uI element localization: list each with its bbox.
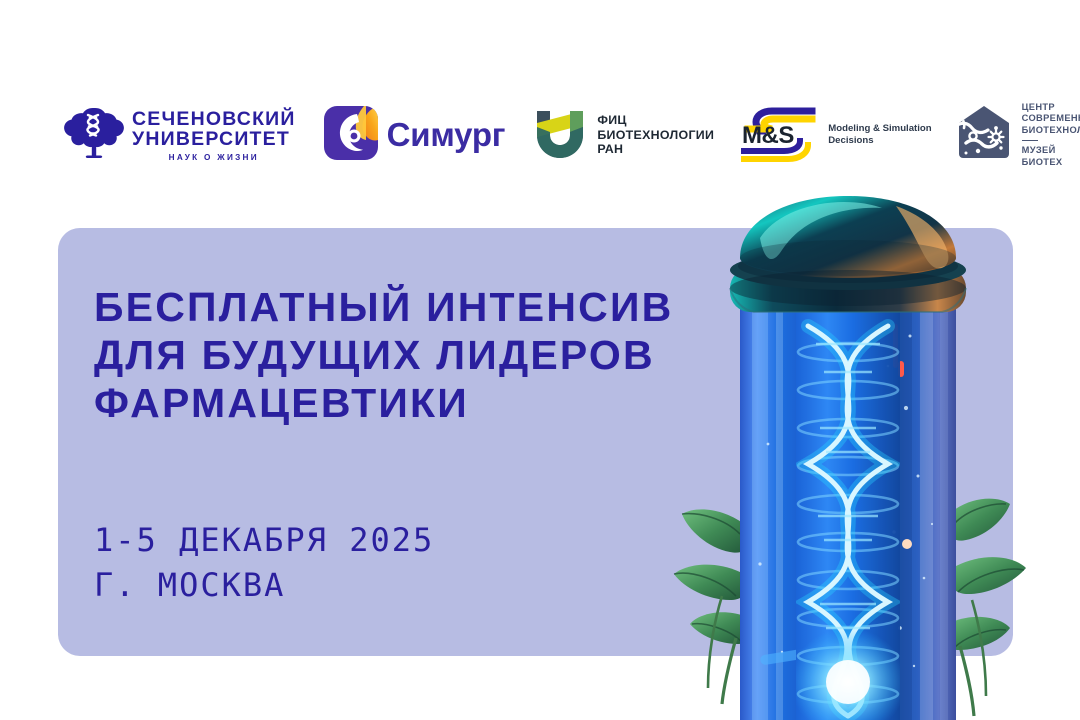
inner-chamber [790,304,906,720]
amber-bubble [902,539,912,549]
leaf-cluster-right [946,499,1026,716]
biotech-line1: ЦЕНТР [1022,102,1080,113]
sechenov-line2: УНИВЕРСИТЕТ [132,129,296,149]
logo-sechenov-university: СЕЧЕНОВСКИЙ УНИВЕРСИТЕТ НАУК О ЖИЗНИ [62,102,296,169]
tree-dna-icon [62,102,124,169]
sechenov-tagline: НАУК О ЖИЗНИ [132,153,296,162]
sechenov-line1: СЕЧЕНОВСКИЙ [132,109,296,129]
logo-fic-text: ФИЦ БИОТЕХНОЛОГИИ РАН [597,113,714,157]
svg-text:M&S: M&S [742,122,794,149]
pentagon-microbe-icon [956,103,1012,166]
leaf-cluster-left [674,509,750,704]
bioreactor-illustration [648,176,1048,720]
u-shape-icon [533,105,587,166]
biotech-line4: МУЗЕЙ [1022,145,1080,156]
phoenix-bird-icon [324,106,378,165]
fic-line3: РАН [597,142,714,157]
ms-line2: Decisions [828,135,931,147]
event-details: 1-5 ДЕКАБРЯ 2025 Г. МОСКВА [94,518,434,608]
swoosh-icon: M&S [738,107,824,163]
biotech-line5: БИОТЕХ [1022,157,1080,168]
partner-logo-bar: СЕЧЕНОВСКИЙ УНИВЕРСИТЕТ НАУК О ЖИЗНИ [0,92,1080,178]
logo-simurg-text: Симург [387,116,506,154]
fic-line2: БИОТЕХНОЛОГИИ [597,128,714,143]
page-title: БЕСПЛАТНЫЙ ИНТЕНСИВ ДЛЯ БУДУЩИХ ЛИДЕРОВ … [94,283,694,427]
headline-block: БЕСПЛАТНЫЙ ИНТЕНСИВ ДЛЯ БУДУЩИХ ЛИДЕРОВ … [94,283,694,427]
logo-biotech-museum: ЦЕНТР СОВРЕМЕННЫХ БИОТЕХНОЛОГИЙ МУЗЕЙ БИ… [956,102,1080,168]
logo-simurg: Симург [324,106,506,165]
logo-biotech-text: ЦЕНТР СОВРЕМЕННЫХ БИОТЕХНОЛОГИЙ МУЗЕЙ БИ… [1022,102,1080,168]
biotech-line3: БИОТЕХНОЛОГИЙ [1022,125,1080,136]
logo-ms-text: Modeling & Simulation Decisions [828,123,931,147]
logo-sechenov-text: СЕЧЕНОВСКИЙ УНИВЕРСИТЕТ НАУК О ЖИЗНИ [132,109,296,162]
reactor-cap [730,196,966,312]
promo-banner: СЕЧЕНОВСКИЙ УНИВЕРСИТЕТ НАУК О ЖИЗНИ [0,0,1080,720]
biotech-line2: СОВРЕМЕННЫХ [1022,113,1080,124]
fic-line1: ФИЦ [597,113,714,128]
logo-fic-biotechnology: ФИЦ БИОТЕХНОЛОГИИ РАН [533,105,714,166]
logo-ms-decisions: M&S Modeling & Simulation Decisions [738,107,931,163]
biotech-divider [1022,140,1038,142]
ms-line1: Modeling & Simulation [828,123,931,135]
